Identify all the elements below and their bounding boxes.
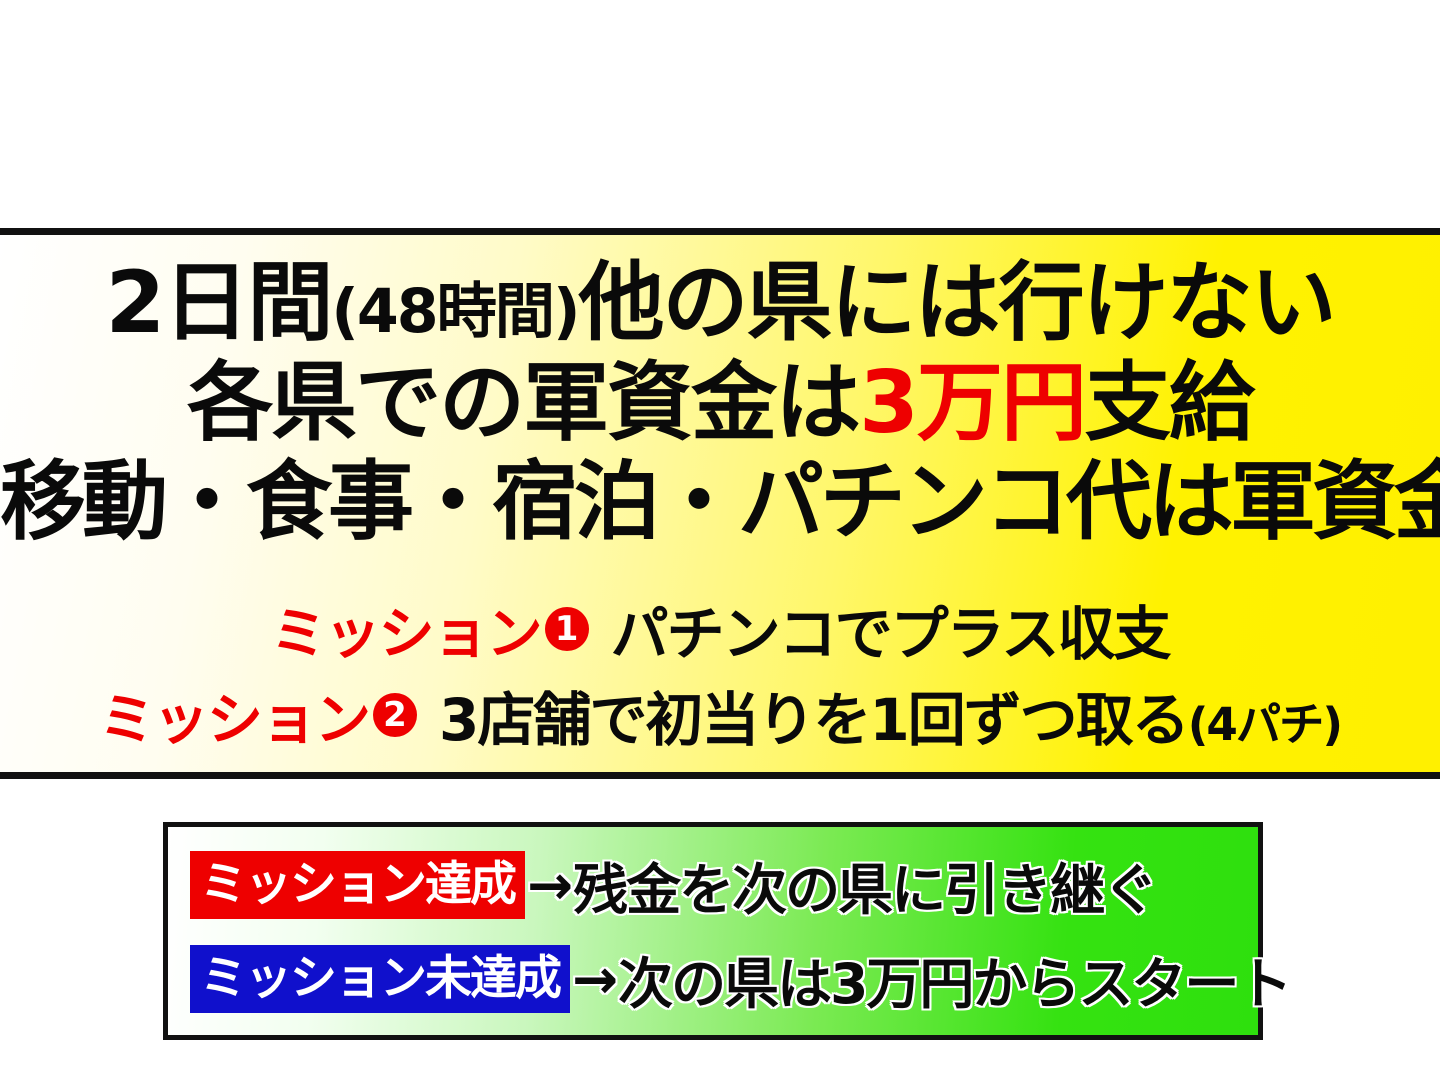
mission-2-body: 3店舗で初当りを1回ずつ取る(4パチ): [439, 673, 1341, 757]
outcome-arrow-1: →: [527, 853, 571, 917]
rule-1-part-1: 2日間: [106, 253, 332, 353]
mission-1-body: パチンコでプラス収支: [611, 587, 1170, 671]
rule-2-part-1: 各県での軍資金は: [187, 353, 859, 453]
outcome-box: ミッション達成 → 残金を次の県に引き継ぐ ミッション未達成 → 次の県は3万円…: [163, 822, 1263, 1040]
outcome-text-failed: 次の県は3万円からスタート: [618, 939, 1290, 1019]
mission-row-1: ミッション 1 パチンコでプラス収支: [0, 596, 1440, 662]
outcome-row-achieved: ミッション達成 → 残金を次の県に引き継ぐ: [190, 845, 1156, 925]
mission-2-label: ミッション 2: [99, 675, 417, 756]
mission-2-body-text: 3店舗で初当りを1回ずつ取る: [439, 686, 1188, 754]
mission-2-body-suffix: (4パチ): [1188, 698, 1341, 751]
outcome-text-achieved: 残金を次の県に引き継ぐ: [573, 845, 1156, 925]
mission-1-label-text: ミッション: [271, 589, 541, 670]
divider-top: [0, 228, 1440, 235]
rule-3-part-1: 移動・食事・宿泊・パチンコ代は軍資金から賄う: [0, 452, 1440, 552]
mission-row-2: ミッション 2 3店舗で初当りを1回ずつ取る(4パチ): [0, 682, 1440, 748]
outcome-row-failed: ミッション未達成 → 次の県は3万円からスタート: [190, 939, 1290, 1019]
rule-line-1: 2日間(48時間)他の県には行けない: [0, 253, 1440, 362]
mission-1-body-text: パチンコでプラス収支: [611, 600, 1170, 668]
mission-2-number-badge: 2: [373, 693, 417, 737]
rule-2-amount: 3万円: [859, 353, 1085, 453]
rule-line-3: 移動・食事・宿泊・パチンコ代は軍資金から賄う: [0, 452, 1440, 552]
rule-1-part-3: 他の県には行けない: [579, 253, 1335, 353]
rule-2-part-3: 支給: [1085, 353, 1253, 453]
status-badge-achieved: ミッション達成: [190, 851, 525, 919]
mission-2-label-text: ミッション: [99, 675, 369, 756]
mission-1-label: ミッション 1: [271, 589, 589, 670]
divider-bottom: [0, 772, 1440, 779]
status-badge-failed: ミッション未達成: [190, 945, 570, 1013]
rule-line-2: 各県での軍資金は3万円支給: [0, 353, 1440, 453]
outcome-arrow-2: →: [572, 947, 616, 1011]
rule-1-part-2: (48時間): [331, 277, 578, 347]
slide-canvas: 三令タビ! 番組ルール 2日間(48時間)他の県には行けない 各県での軍資金は3…: [0, 0, 1440, 1080]
mission-1-number-badge: 1: [545, 607, 589, 651]
header: 三令タビ! 番組ルール: [0, 140, 1440, 230]
